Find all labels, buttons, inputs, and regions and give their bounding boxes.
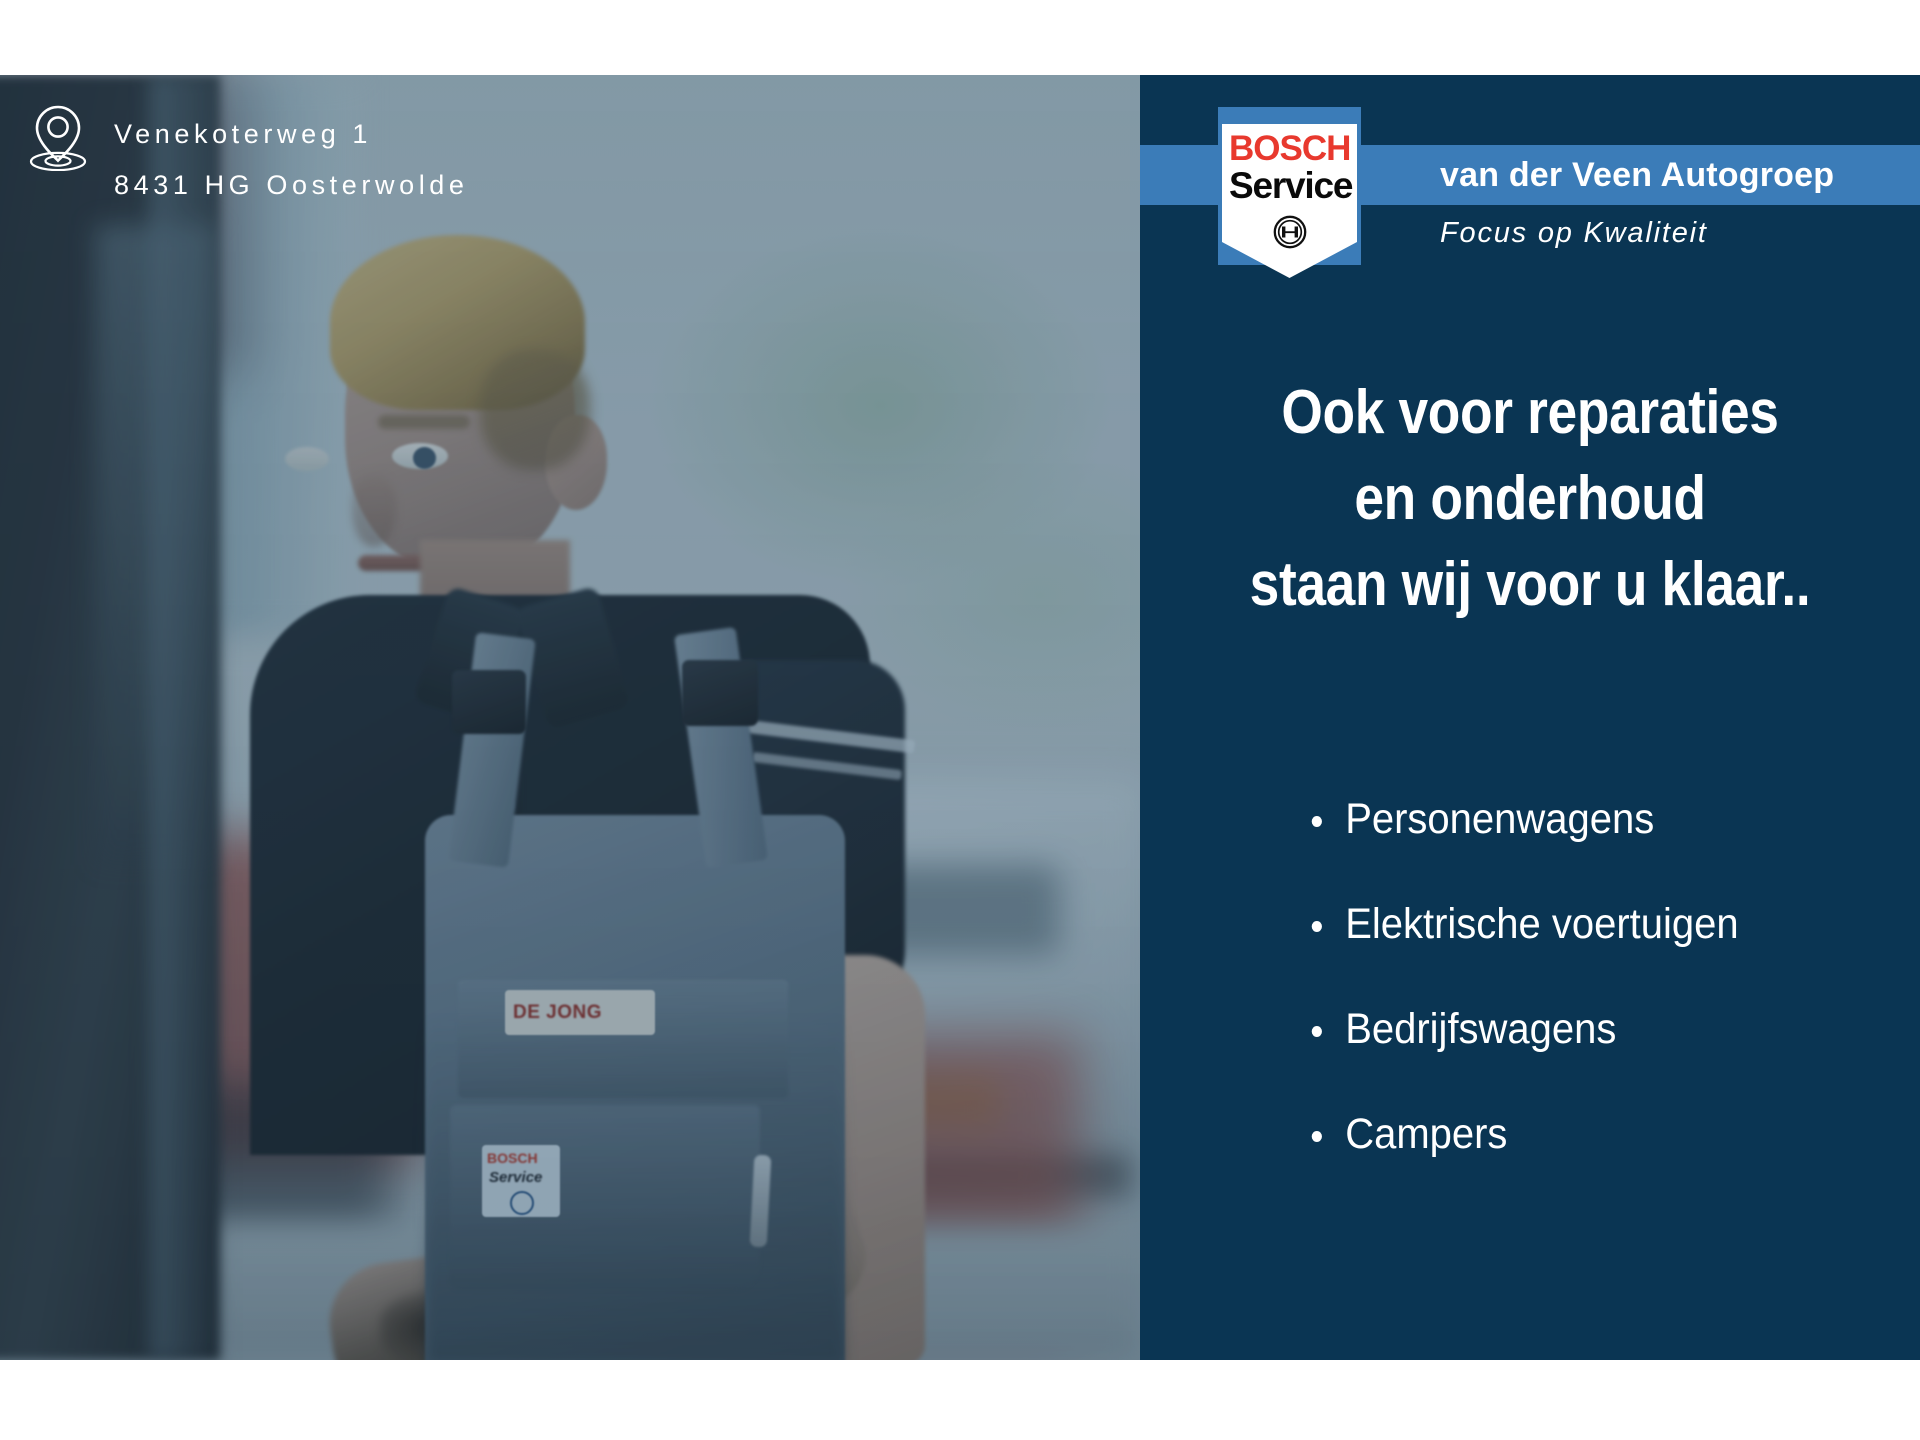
photo-haze-overlay: [0, 75, 1140, 1360]
address-city: 8431 HG Oosterwolde: [114, 160, 469, 211]
bosch-armature-icon: [1273, 215, 1307, 249]
headline-line-2: en onderhoud: [1195, 456, 1866, 542]
location-pin-icon: [28, 103, 88, 171]
bosch-service-wordmark: Service: [1229, 165, 1352, 207]
list-item: Elektrische voertuigen: [1308, 895, 1877, 953]
info-panel: van der Veen Autogroep Focus op Kwalitei…: [1140, 75, 1920, 1360]
list-item: Bedrijfswagens: [1308, 1000, 1877, 1058]
headline-line-1: Ook voor reparaties: [1195, 370, 1866, 456]
list-item: Personenwagens: [1308, 790, 1877, 848]
headline-block: Ook voor reparaties en onderhoud staan w…: [1140, 370, 1920, 628]
address-lines: Venekoterweg 1 8431 HG Oosterwolde: [114, 103, 469, 211]
bosch-service-logo: BOSCH Service: [1218, 107, 1361, 265]
services-list: Personenwagens Elektrische voertuigen Be…: [1308, 790, 1920, 1210]
list-item: Campers: [1308, 1105, 1877, 1163]
mechanic-photo: DE JONG BOSCH Service: [0, 75, 1140, 1360]
bosch-wordmark: BOSCH: [1229, 129, 1350, 169]
advertisement-canvas: DE JONG BOSCH Service: [0, 0, 1920, 1440]
address-overlay: Venekoterweg 1 8431 HG Oosterwolde: [28, 103, 469, 211]
address-street: Venekoterweg 1: [114, 109, 469, 160]
content-band: DE JONG BOSCH Service: [0, 75, 1920, 1360]
company-name: van der Veen Autogroep: [1440, 145, 1920, 205]
company-tagline: Focus op Kwaliteit: [1440, 217, 1920, 250]
headline-line-3: staan wij voor u klaar..: [1195, 542, 1866, 628]
